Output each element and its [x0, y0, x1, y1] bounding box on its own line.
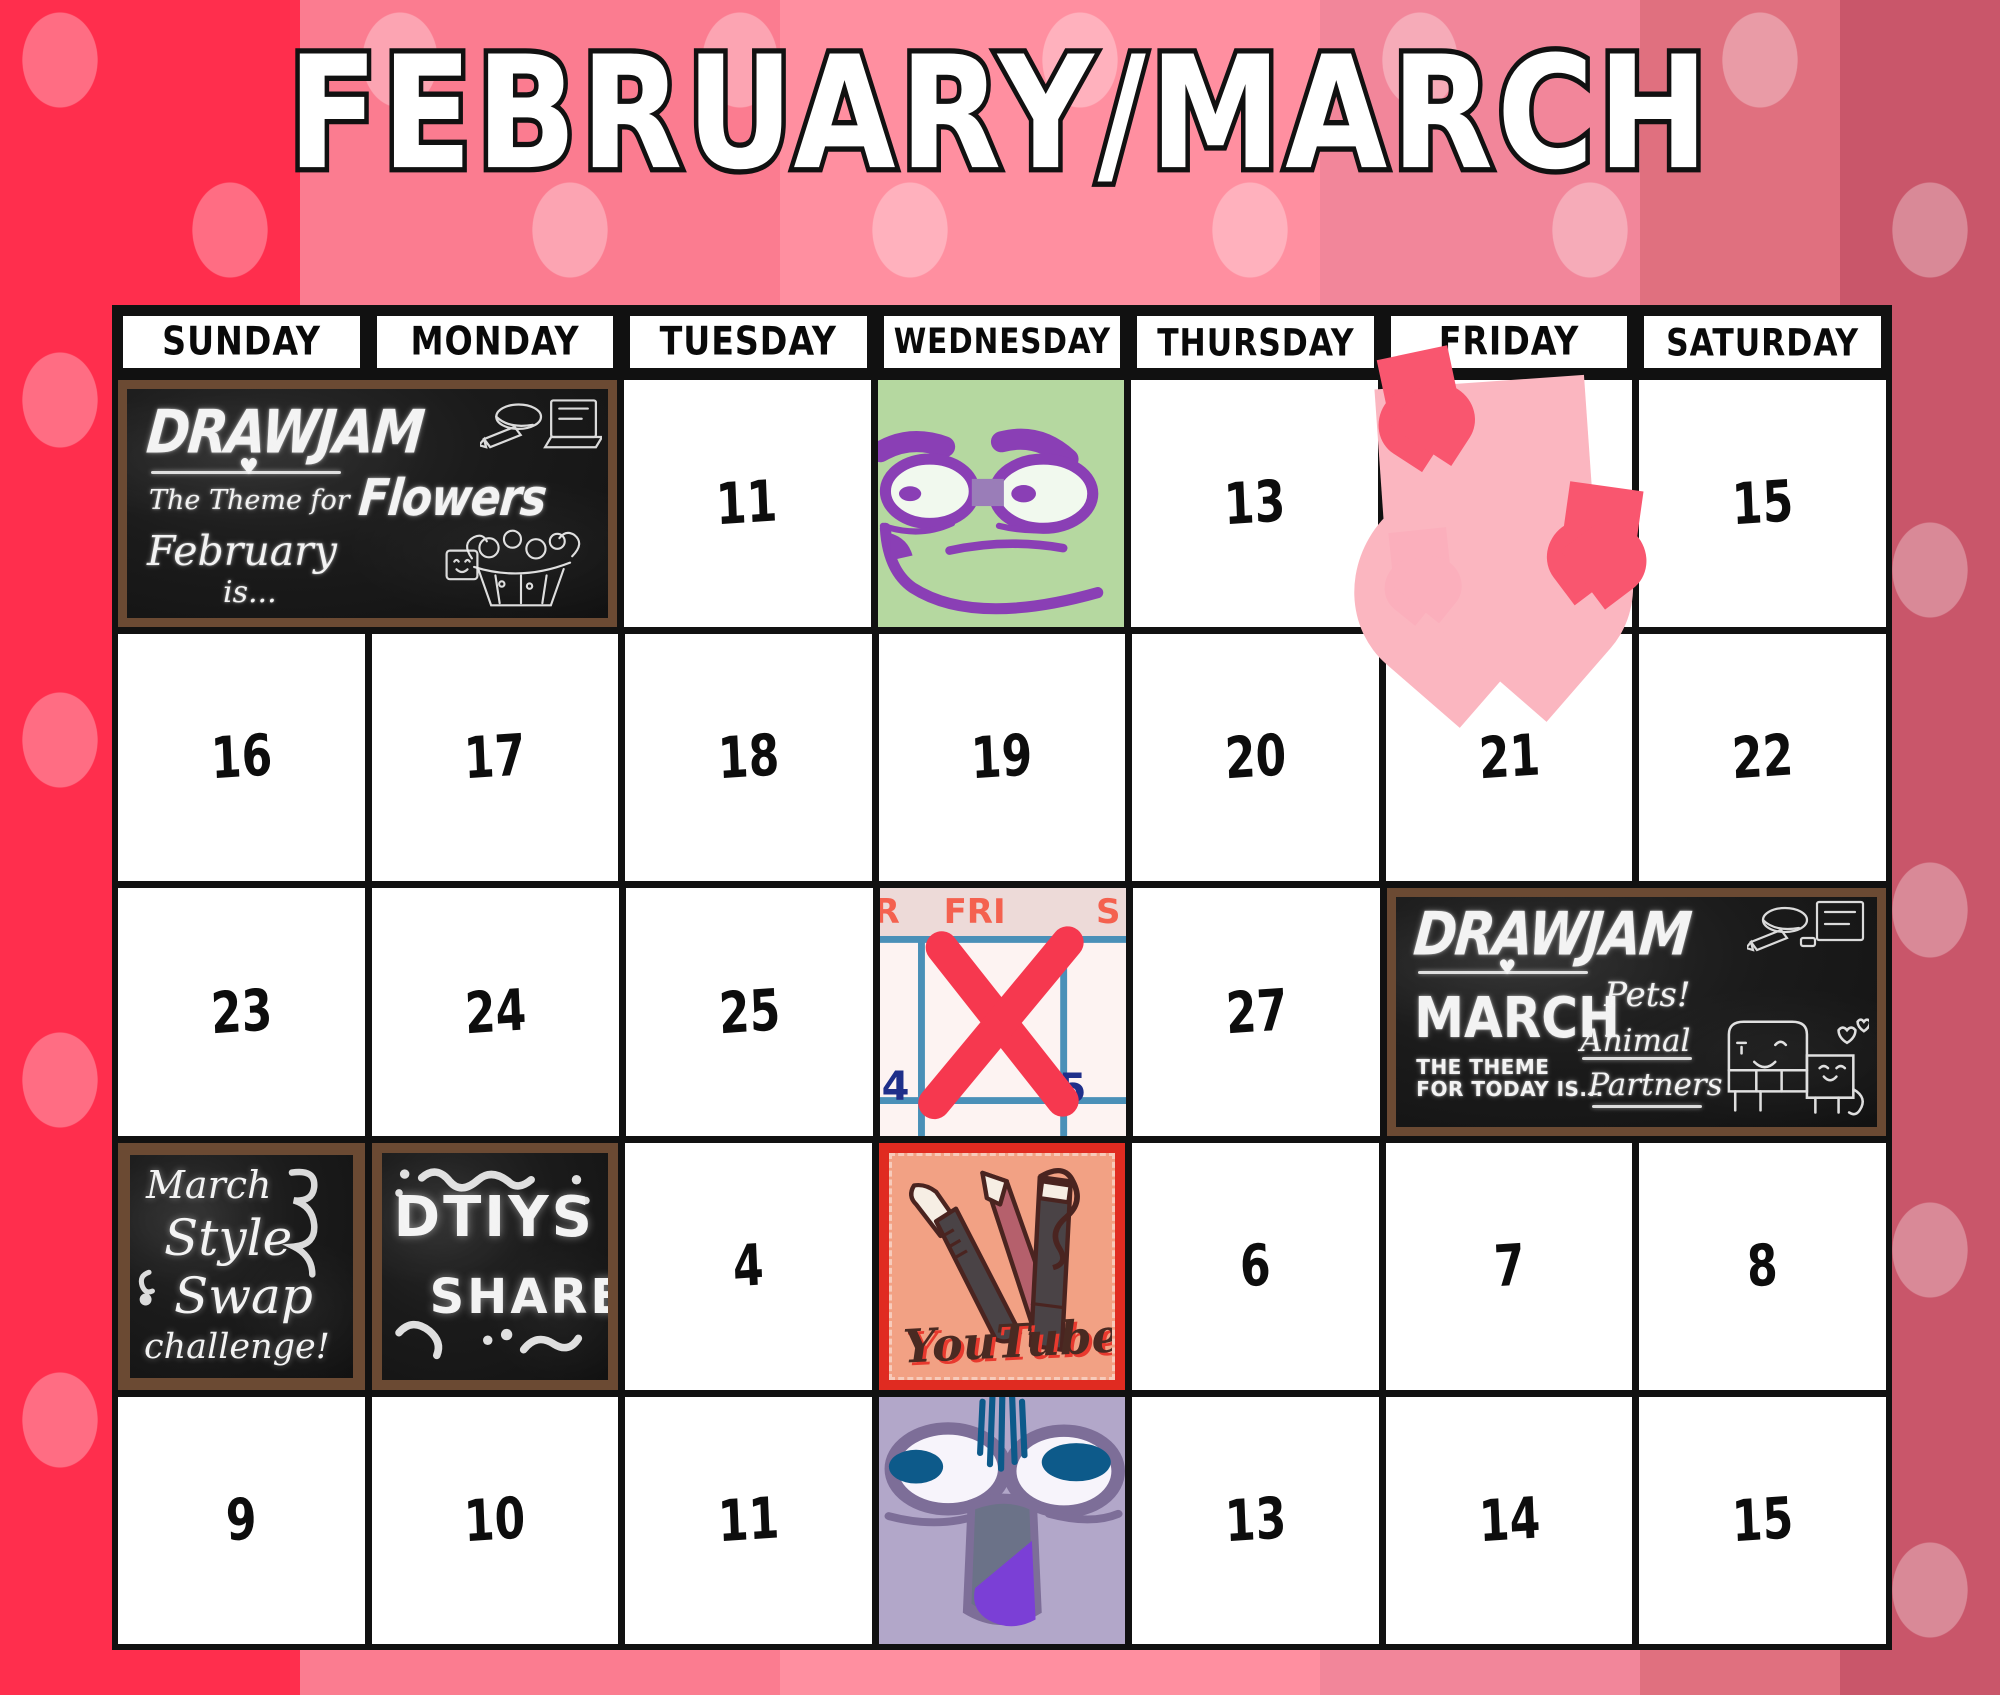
day-cell-mar-5[interactable]: YouTube [879, 1143, 1126, 1390]
draw-jam-theme-prompt: THE THEME FOR TODAY IS... [1416, 1057, 1603, 1100]
day-number: 24 [463, 977, 527, 1047]
day-cell-feb-18[interactable]: 18 [625, 634, 872, 881]
weekday-label: WEDNESDAY [893, 322, 1110, 362]
weekday-header-saturday: SATURDAY [1639, 311, 1886, 373]
day-cell-mar-11[interactable]: 11 [625, 1397, 872, 1644]
day-number: 13 [1223, 468, 1287, 538]
style-swap-chalkboard: March Style Swap challenge! [118, 1143, 365, 1390]
day-number: 15 [1731, 468, 1795, 538]
day-number: 13 [1224, 1485, 1288, 1555]
youtube-inner-panel: YouTube [889, 1153, 1116, 1380]
day-number: 14 [1477, 1485, 1541, 1555]
day-number: 27 [1225, 977, 1289, 1047]
draw-jam-theme-partners: Partners [1588, 1067, 1722, 1103]
draw-jam-heading: DRAWJAM [1411, 901, 1693, 970]
day-number: 8 [1746, 1232, 1779, 1300]
weekday-header-wednesday: WEDNESDAY [879, 311, 1126, 373]
day-cell-feb-26[interactable]: R FRI S 4 5 [880, 888, 1127, 1135]
day-cell-mar-2[interactable]: March Style Swap challenge! [118, 1143, 365, 1390]
style-swap-line1: March [146, 1163, 272, 1207]
day-number: 10 [463, 1485, 527, 1555]
chalkboard-surface: DRAWJAM ♥ The Theme for February is... F… [127, 389, 608, 618]
vine-divider-icon [1592, 1105, 1702, 1108]
day-number: 25 [717, 977, 781, 1047]
day-number: 16 [209, 723, 273, 793]
day-cell-feb-13[interactable]: 13 [1131, 380, 1378, 627]
day-number: 7 [1493, 1232, 1526, 1300]
draw-jam-line3: is... [223, 575, 277, 610]
day-number: 19 [970, 723, 1034, 793]
day-cell-mar-12[interactable] [879, 1397, 1126, 1644]
day-number: 4 [732, 1232, 765, 1300]
day-cell-feb-27[interactable]: 27 [1133, 888, 1380, 1135]
draw-jam-theme-february: Flowers [356, 469, 548, 528]
day-cell-mar-13[interactable]: 13 [1132, 1397, 1379, 1644]
purple-face-artwork [879, 1397, 1126, 1644]
heart-accent-top-icon [1377, 345, 1462, 426]
day-number: 9 [225, 1486, 258, 1554]
day-number: 21 [1477, 723, 1541, 793]
day-number: 15 [1731, 1485, 1795, 1555]
day-cell-feb-19[interactable]: 19 [879, 634, 1126, 881]
hearts-artwork [1365, 360, 1652, 647]
day-cell-mar-7[interactable]: 7 [1386, 1143, 1633, 1390]
day-cell-feb-22[interactable]: 22 [1639, 634, 1886, 881]
draw-jam-february-chalkboard: DRAWJAM ♥ The Theme for February is... F… [118, 380, 617, 627]
dtiys-share-chalkboard: DTIYS SHARE [372, 1143, 619, 1390]
day-cell-feb-24[interactable]: 24 [372, 888, 619, 1135]
day-number: 6 [1239, 1232, 1272, 1300]
day-cell-feb-28[interactable]: DRAWJAM ♥ MARCH THE THEME FOR TODAY IS..… [1387, 888, 1886, 1135]
day-cell-feb-20[interactable]: 20 [1132, 634, 1379, 881]
day-cell-mar-6[interactable]: 6 [1132, 1143, 1379, 1390]
day-cell-mar-14[interactable]: 14 [1386, 1397, 1633, 1644]
weekday-header-tuesday: TUESDAY [625, 311, 872, 373]
mini-calendar-artwork: R FRI S 4 5 [880, 888, 1127, 1135]
weekday-label: SATURDAY [1666, 320, 1859, 364]
desk-doodle-icon [480, 393, 602, 477]
green-frog-artwork [878, 380, 1125, 627]
day-number: 17 [463, 723, 527, 793]
day-number: 11 [715, 468, 779, 538]
draw-jam-heading: DRAWJAM [144, 399, 426, 468]
day-number: 11 [717, 1485, 781, 1555]
toast-pet-doodle-icon [1709, 1007, 1869, 1123]
day-cell-feb-16[interactable]: 16 [118, 634, 365, 881]
heart-icon: ♥ [239, 455, 259, 480]
weekday-label: MONDAY [410, 320, 579, 365]
vine-divider-icon [1582, 1057, 1692, 1060]
day-cell-feb-15[interactable]: 15 [1639, 380, 1886, 627]
red-x-mark-icon [880, 888, 1127, 1135]
heart-icon: ♥ [1498, 955, 1516, 979]
day-cell-mar-15[interactable]: 15 [1639, 1397, 1886, 1644]
swirl-decoration-icon [279, 1159, 353, 1349]
day-cell-mar-9[interactable]: 9 [118, 1397, 365, 1644]
page-title: FEBRUARY/MARCH [0, 31, 2000, 196]
day-number: 20 [1224, 723, 1288, 793]
draw-jam-line2: February [147, 527, 337, 575]
calendar-grid: SUNDAY MONDAY TUESDAY WEDNESDAY THURSDAY… [112, 305, 1892, 1650]
day-cell-mar-4[interactable]: 4 [625, 1143, 872, 1390]
chalk-flourish-icon [382, 1153, 609, 1380]
heart-small-bottom-icon [1389, 527, 1452, 587]
day-cell-feb-11[interactable]: 11 [624, 380, 871, 627]
calendar-weeks: DRAWJAM ♥ The Theme for February is... F… [118, 380, 1886, 1644]
day-cell-feb-12[interactable] [878, 380, 1125, 627]
youtube-label: YouTube [901, 1308, 1115, 1373]
day-cell-mar-10[interactable]: 10 [372, 1397, 619, 1644]
day-cell-feb-25[interactable]: 25 [626, 888, 873, 1135]
draw-jam-march-chalkboard: DRAWJAM ♥ MARCH THE THEME FOR TODAY IS..… [1387, 888, 1886, 1135]
calendar-week-row: March Style Swap challenge! [118, 1143, 1886, 1390]
day-number: 18 [717, 723, 781, 793]
weekday-header-thursday: THURSDAY [1132, 311, 1379, 373]
desk-doodle-icon [1747, 897, 1867, 979]
chalkboard-surface: DTIYS SHARE [382, 1153, 609, 1380]
heart-accent-right-icon [1561, 481, 1644, 561]
purple-monster-face-icon [879, 1397, 1126, 1644]
kawaii-square-icon [440, 544, 484, 588]
weekday-label: SUNDAY [162, 320, 321, 365]
day-cell-feb-10[interactable]: DRAWJAM ♥ The Theme for February is... F… [118, 380, 617, 627]
weekday-header-sunday: SUNDAY [118, 311, 365, 373]
calendar-week-row: DRAWJAM ♥ The Theme for February is... F… [118, 380, 1886, 627]
calendar-week-row: 9 10 11 [118, 1397, 1886, 1644]
weekday-label: THURSDAY [1157, 320, 1354, 364]
swirl-decoration-icon [132, 1263, 166, 1319]
day-cell-mar-3[interactable]: DTIYS SHARE [372, 1143, 619, 1390]
calendar-week-row: 16 17 18 19 20 21 22 [118, 634, 1886, 881]
day-cell-feb-14[interactable] [1385, 380, 1632, 627]
frog-face-icon [878, 380, 1125, 627]
day-number: 23 [210, 977, 274, 1047]
day-cell-feb-23[interactable]: 23 [118, 888, 365, 1135]
weekday-label: TUESDAY [660, 320, 837, 365]
day-cell-mar-8[interactable]: 8 [1639, 1143, 1886, 1390]
draw-jam-theme-pets: Pets! [1604, 975, 1690, 1015]
calendar-week-row: 23 24 25 R FRI S [118, 888, 1886, 1135]
youtube-artwork: YouTube [879, 1143, 1126, 1390]
weekday-label: FRIDAY [1439, 320, 1580, 365]
day-number: 22 [1731, 723, 1795, 793]
draw-jam-line1: The Theme for [149, 485, 350, 516]
day-cell-feb-17[interactable]: 17 [372, 634, 619, 881]
style-swap-line2: Style [164, 1209, 292, 1267]
weekday-header-monday: MONDAY [372, 311, 619, 373]
draw-jam-theme-animal: Animal [1580, 1023, 1690, 1059]
chalkboard-surface: DRAWJAM ♥ MARCH THE THEME FOR TODAY IS..… [1396, 897, 1877, 1126]
chalkboard-surface: March Style Swap challenge! [130, 1155, 353, 1378]
